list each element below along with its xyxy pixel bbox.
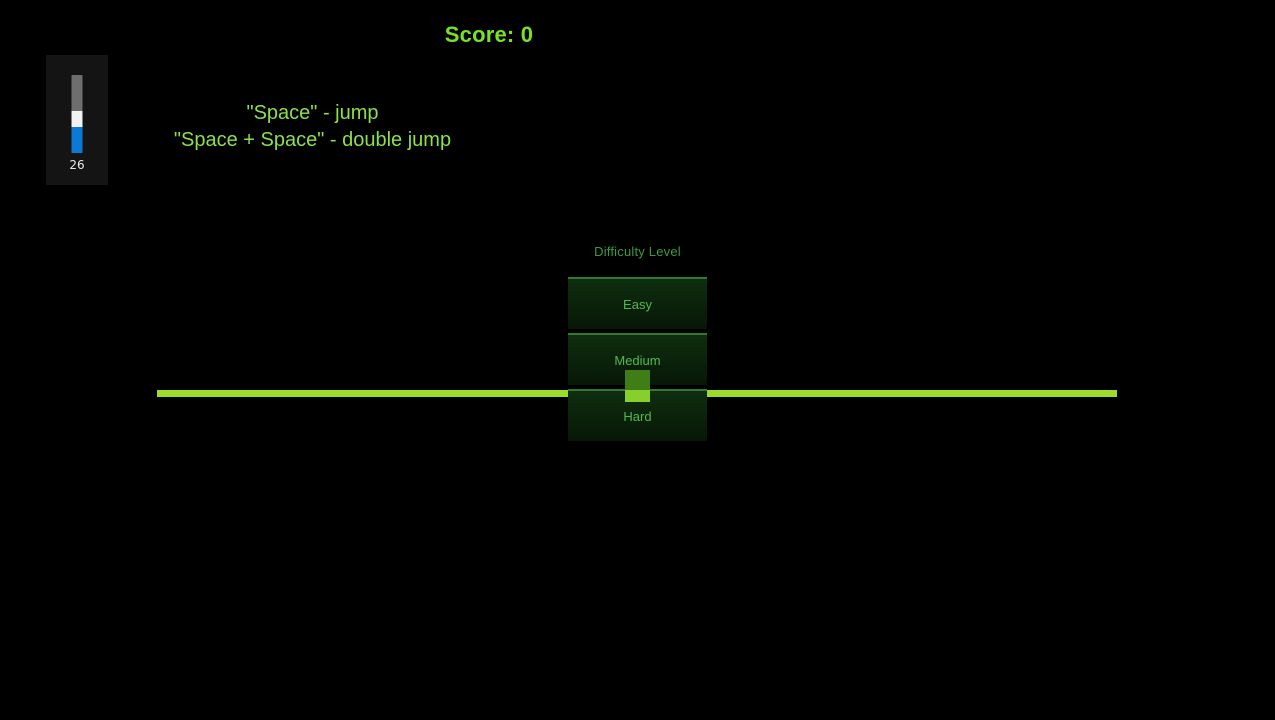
volume-value-label: 26 <box>46 158 108 172</box>
player-body-lower <box>625 390 650 402</box>
volume-slider-handle[interactable] <box>72 111 83 127</box>
volume-panel: 26 <box>46 55 108 185</box>
difficulty-title: Difficulty Level <box>568 244 707 259</box>
player-character <box>625 370 650 396</box>
score-display: Score: 0 <box>0 22 978 48</box>
game-canvas: Score: 0 "Space" - jump "Space + Space" … <box>0 0 1275 720</box>
volume-slider-track[interactable] <box>72 75 83 153</box>
volume-slider-fill <box>72 127 83 153</box>
difficulty-menu: Difficulty Level Easy Medium Hard <box>568 244 707 441</box>
difficulty-option-easy[interactable]: Easy <box>568 277 707 329</box>
player-body-upper <box>625 370 650 390</box>
